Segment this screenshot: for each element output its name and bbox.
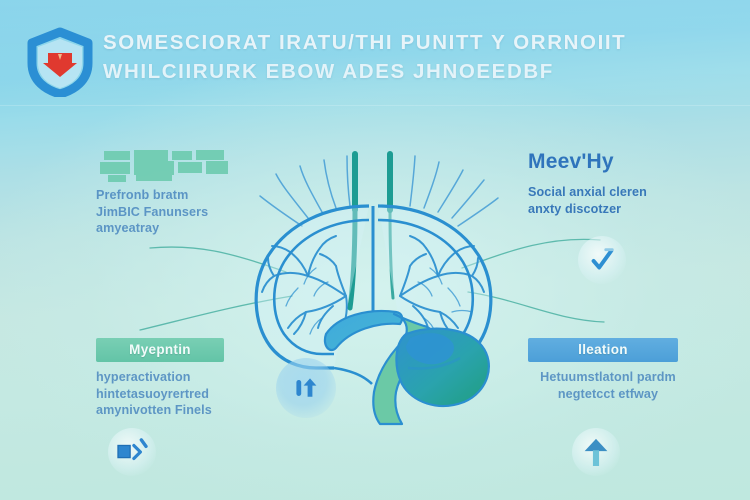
square-chevron-icon[interactable]: [108, 428, 156, 476]
callout-badge-fragments: [96, 148, 246, 180]
check-icon[interactable]: [578, 236, 626, 284]
callout-bottom-right[interactable]: lleation Hetuumstlatonl pardm negtetcct …: [528, 338, 718, 402]
infographic-canvas: SOMESCIORAT IRATU/THI PUNITT Y ORRNOIIT …: [0, 0, 750, 500]
callout-description: Prefronb bratm JimBIC Fanunsers amyeatra…: [96, 187, 286, 237]
bar-arrow-icon-glyph: [293, 376, 319, 400]
square-chevron-icon-glyph: [116, 438, 148, 466]
callout-description: Social anxial cleren anxty discotzer: [528, 184, 718, 217]
callout-description: Hetuumstlatonl pardm negtetcct etfway: [528, 369, 688, 402]
up-arrow-icon[interactable]: [572, 428, 620, 476]
bar-arrow-icon[interactable]: [276, 358, 336, 418]
callout-description: hyperactivation hintetasuoyrertred amyni…: [96, 369, 286, 419]
callout-top-right[interactable]: Meev'Hy Social anxial cleren anxty disco…: [528, 146, 718, 217]
callout-bottom-left[interactable]: Myepntin hyperactivation hintetasuoyrert…: [96, 338, 286, 419]
check-icon-glyph: [587, 245, 617, 275]
callout-badge-label: Myepntin: [96, 338, 224, 362]
callout-badge-label: Meev'Hy: [528, 146, 624, 179]
callout-badge-label: lleation: [528, 338, 678, 362]
callout-top-left[interactable]: Prefronb bratm JimBIC Fanunsers amyeatra…: [96, 148, 286, 237]
up-arrow-icon-glyph: [582, 436, 610, 468]
